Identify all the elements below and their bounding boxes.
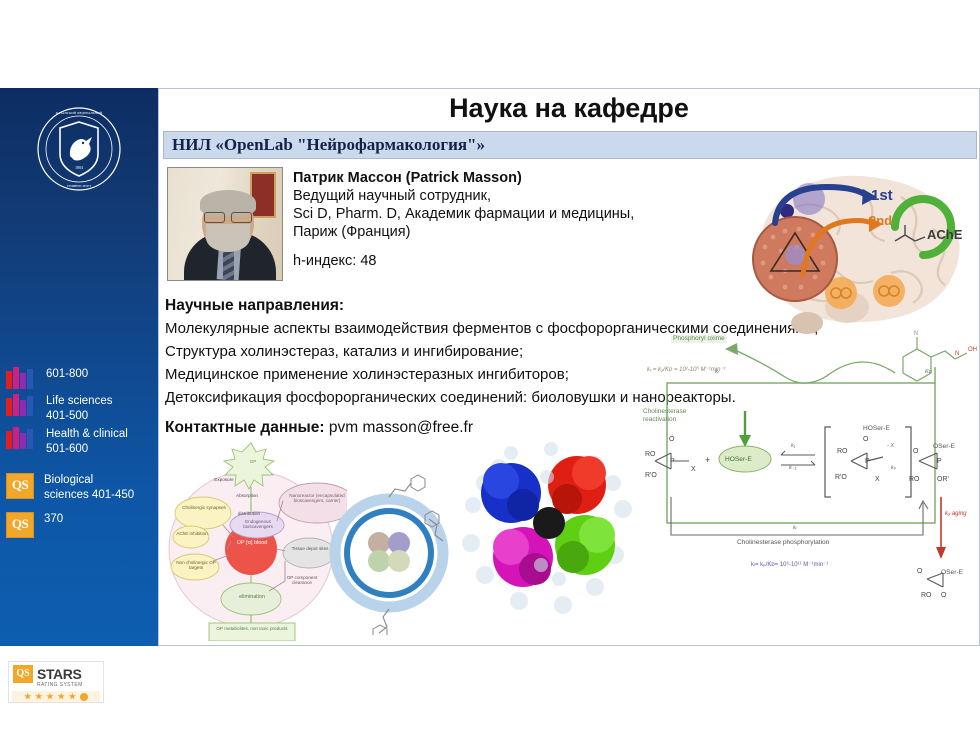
person-degrees: Sci D, Pharm. D, Академик фармации и мед… — [293, 205, 733, 223]
brain-label-2nd: 2nd — [869, 213, 892, 228]
svg-text:O: O — [941, 592, 947, 599]
svg-text:OH: OH — [968, 347, 977, 353]
svg-text:OR': OR' — [937, 476, 949, 483]
person-photo — [167, 167, 283, 281]
ranking-line: sciences 401-450 — [44, 488, 134, 503]
rating-dot-icon — [80, 693, 88, 701]
svg-text:RO: RO — [837, 448, 848, 455]
times-higher-education-logo-icon — [6, 367, 38, 389]
person-position: Ведущий научный сотрудник, — [293, 187, 733, 205]
star-icon: ★ — [46, 693, 53, 701]
brain-illustration-icon — [745, 163, 973, 335]
svg-text:O: O — [917, 568, 923, 575]
ranking-text: Biological sciences 401-450 — [44, 472, 134, 502]
chem-label-ki: kᵢ — [793, 525, 797, 531]
person-h-index: h-индекс: 48 — [293, 253, 733, 269]
person-bio: Патрик Массон (Patrick Masson) Ведущий н… — [293, 169, 733, 269]
chem-label-phosphorylation: Cholinesterase phosphorylation — [737, 539, 829, 546]
contact-label: Контактные данные: — [165, 419, 325, 436]
times-higher-education-logo-icon — [6, 427, 38, 449]
chem-label-hoser-e-bracket: HOSer-E — [863, 425, 890, 432]
sidebar: 1804 КАЗАНСКИЙ ФЕДЕРАЛЬНЫЙ УНИВЕРСИТЕТ 6… — [0, 88, 160, 646]
brain-label-ache: AChE — [927, 227, 962, 242]
pk-label-absorption: Absorption — [217, 493, 277, 498]
chem-label-aged-product: OSer-E — [941, 569, 963, 576]
svg-text:N: N — [955, 351, 959, 357]
contact-line: Контактные данные: pvm masson@free.fr — [165, 419, 473, 437]
ranking-line: 501-600 — [46, 442, 128, 457]
svg-text:X: X — [691, 466, 696, 473]
protein-tetramer-icon — [455, 439, 635, 629]
svg-text:P: P — [670, 458, 675, 465]
chem-label-kr-equation: kᵣ = k₂/Kᴅ = 10²-10⁵ M⁻¹min⁻¹ — [647, 367, 726, 374]
ranking-text: 370 — [44, 511, 63, 527]
ranking-row: QS 370 — [6, 511, 158, 538]
pk-label-op-metabolites: OP metabolites, non toxic products — [211, 626, 293, 631]
pk-label-endogenous-bioscavengers: Endogenous bioscavengers — [233, 519, 283, 530]
page-title: Наука на кафедре — [159, 93, 979, 124]
chem-label-kp: kₚ — [891, 465, 896, 471]
pk-label-distribution: distribution — [219, 511, 279, 516]
pk-label-elimination: elimination — [229, 595, 275, 600]
ranking-row: 601-800 — [6, 366, 158, 390]
svg-text:1804: 1804 — [75, 165, 83, 170]
svg-text:P: P — [937, 458, 942, 465]
contact-email[interactable]: pvm masson@free.fr — [329, 419, 473, 436]
qs-stars-badge: QS STARS RATING SYSTEM ★ ★ ★ ★ ★ — [8, 661, 104, 703]
qs-stars-rating-strip: ★ ★ ★ ★ ★ — [12, 691, 100, 702]
pk-label-non-cholinergic-targets: Non cholinergic OP targets — [173, 560, 219, 571]
ranking-line: Health & clinical — [46, 427, 128, 442]
star-icon: ★ — [24, 693, 31, 701]
brain-label-1st: 1st — [871, 187, 893, 204]
svg-text:N: N — [914, 331, 918, 337]
ranking-row: QS Biological sciences 401-450 — [6, 472, 158, 502]
photo-glasses — [204, 212, 252, 221]
star-icon: ★ — [35, 693, 42, 701]
svg-text:RO: RO — [909, 476, 920, 483]
pk-label-ache-inhibition: AChE inhibition — [175, 531, 209, 536]
pk-label-exposure: Exposure — [199, 477, 249, 482]
ranking-line: Life sciences — [46, 394, 112, 409]
ranking-line: 601-800 — [46, 367, 88, 382]
kazan-federal-university-crest-icon: 1804 КАЗАНСКИЙ ФЕДЕРАЛЬНЫЙ УНИВЕРСИТЕТ — [36, 106, 122, 192]
chem-label-reactivation: Cholinesterase reactivation — [643, 408, 707, 424]
svg-text:R'O: R'O — [645, 472, 657, 479]
svg-text:RO: RO — [645, 451, 656, 458]
qs-stars-subtitle: RATING SYSTEM — [37, 682, 103, 688]
ranking-line: 401-500 — [46, 409, 112, 424]
pk-label-cholinergic-synapses: Cholinergic synapses — [179, 505, 229, 510]
chem-label-oser-e: OSer-E — [933, 443, 955, 450]
chem-label-kr: kᵣ — [715, 369, 719, 375]
op-pharmacokinetics-diagram: OP Exposure Absorption distribution Chol… — [165, 441, 347, 641]
star-icon: ★ — [69, 693, 76, 701]
lab-banner: НИЛ «OpenLab "Нейрофармакология"» — [163, 131, 977, 159]
person-name: Патрик Массон (Patrick Masson) — [293, 169, 733, 187]
chem-label-hoser-e: HOSer-E — [725, 456, 752, 463]
chem-label-phosphoryl-oxime: Phosphoryl oxime — [671, 335, 727, 343]
rankings-list: 601-800 Life sciences 401-500 Health & c… — [6, 366, 158, 541]
slide-content: Наука на кафедре НИЛ «OpenLab "Нейрофарм… — [158, 88, 980, 646]
svg-text:КАЗАНСКИЙ ФЕДЕРАЛЬНЫЙ: КАЗАНСКИЙ ФЕДЕРАЛЬНЫЙ — [56, 110, 103, 115]
svg-text:УНИВЕРСИТЕТ: УНИВЕРСИТЕТ — [67, 184, 92, 188]
photo-beard — [206, 224, 250, 252]
chem-label-kd: Kᴅ — [925, 369, 932, 375]
nanoreactor-molecule-figure — [329, 445, 449, 635]
svg-text:RO: RO — [921, 592, 932, 599]
chem-label-minus-x: - X — [887, 443, 894, 449]
pk-label-tissue-depot: Tissue depot sites — [289, 546, 331, 551]
ranking-row: Life sciences 401-500 — [6, 393, 158, 423]
brain-diagram: 1st 2nd AChE — [745, 163, 973, 335]
pk-label-op: OP — [231, 459, 275, 464]
chem-label-aging: kₐ aging — [945, 511, 971, 518]
nanoreactor-ring-icon — [329, 445, 449, 635]
chem-label-k1: k₁ — [791, 443, 796, 449]
svg-text:O: O — [863, 436, 869, 443]
chem-label-k-minus1: k₋₁ — [789, 465, 797, 471]
ranking-row: Health & clinical 501-600 — [6, 426, 158, 456]
reaction-scheme-icon: N N OH RO R'O O P X + — [637, 311, 977, 641]
protein-structure-figure — [455, 439, 635, 629]
ranking-text: 601-800 — [46, 366, 88, 382]
ranking-line: Biological — [44, 473, 134, 488]
qs-logo-icon: QS — [13, 665, 33, 683]
svg-text:R'O: R'O — [835, 474, 847, 481]
lab-banner-label: НИЛ «OpenLab "Нейрофармакология"» — [164, 135, 485, 155]
ranking-line: 370 — [44, 512, 63, 527]
person-city: Париж (Франция) — [293, 223, 733, 241]
presentation-slide: 1804 КАЗАНСКИЙ ФЕДЕРАЛЬНЫЙ УНИВЕРСИТЕТ 6… — [0, 88, 980, 648]
pk-label-op-blood: OP [ס] blood — [231, 541, 273, 546]
svg-text:X: X — [875, 476, 880, 483]
times-higher-education-logo-icon — [6, 394, 38, 416]
svg-text:+: + — [705, 455, 710, 465]
star-icon: ★ — [58, 693, 65, 701]
qs-logo-icon: QS — [6, 512, 34, 538]
chem-label-ki-equation: kᵢ= kₚ/Kᴅ= 10⁶-10¹¹ M⁻¹min⁻¹ — [751, 561, 828, 568]
ranking-text: Health & clinical 501-600 — [46, 426, 128, 456]
pk-label-clearance: OP component clearance — [279, 575, 325, 586]
ranking-text: Life sciences 401-500 — [46, 393, 112, 423]
svg-text:O: O — [913, 448, 919, 455]
qs-stars-label: STARS — [37, 668, 81, 681]
qs-logo-icon: QS — [6, 473, 34, 499]
svg-text:P: P — [865, 458, 870, 465]
cholinesterase-reaction-scheme: N N OH RO R'O O P X + — [637, 311, 977, 641]
svg-text:O: O — [669, 436, 675, 443]
